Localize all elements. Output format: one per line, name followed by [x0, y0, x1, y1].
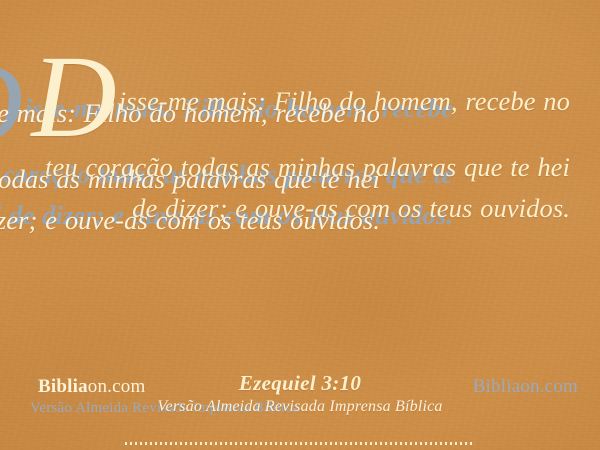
footer: Versão Almeida Revisada Imprensa Bíblica… [0, 370, 600, 432]
verse-version: Versão Almeida Revisada Imprensa Bíblica [0, 396, 600, 418]
verse-body: isse-me mais: Filho do homem, recebe no … [45, 86, 570, 223]
bottom-dotted-rule [125, 442, 475, 445]
verse-text: Disse-me mais: Filho do homem, recebe no… [0, 46, 600, 229]
verse-reference-block: Ezequiel 3:10 Versão Almeida Revisada Im… [0, 370, 600, 418]
verse-dropcap: D [31, 46, 116, 147]
verse-reference: Ezequiel 3:10 [0, 370, 600, 396]
verse-card: Disse-me mais: Filho do homem, recebe no… [0, 0, 600, 450]
